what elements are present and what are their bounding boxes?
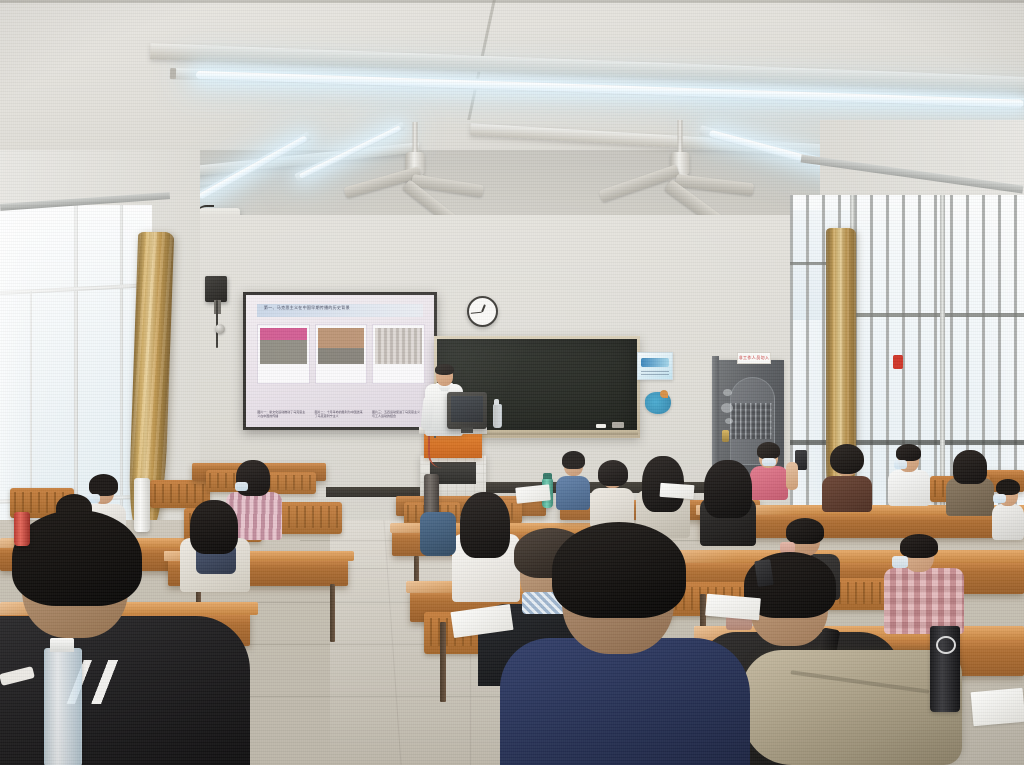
desk-leg bbox=[440, 622, 446, 702]
backpack bbox=[420, 512, 456, 556]
attendee bbox=[822, 444, 872, 512]
lecturer-hair bbox=[435, 364, 454, 375]
bottle-cap bbox=[50, 638, 74, 652]
student bbox=[556, 452, 590, 510]
student-black-jacket-front-left bbox=[0, 520, 250, 765]
wall-speaker bbox=[205, 276, 227, 302]
projection-screen: 第一、马克思主义在中国早期传播的历史背景 图片一：新文化运动推动了马克思主义在中… bbox=[243, 292, 437, 430]
projection-screen-surface: 第一、马克思主义在中国早期传播的历史背景 图片一：新文化运动推动了马克思主义在中… bbox=[246, 295, 434, 427]
desktop-monitor bbox=[447, 392, 487, 429]
water-bottle-red bbox=[14, 512, 30, 546]
poster-cat-decal bbox=[645, 392, 671, 414]
poster-blue-notice bbox=[637, 352, 673, 380]
slide-caption: 图片一：新文化运动推动了马克思主义在中国的传播 bbox=[257, 410, 306, 420]
monitor-stand bbox=[461, 427, 473, 433]
chalk-piece bbox=[596, 424, 606, 428]
slide-panel-image bbox=[318, 328, 365, 364]
door-sign-text: 非工作人员勿入 bbox=[739, 355, 770, 361]
thermos-white bbox=[134, 478, 150, 532]
desk-leg bbox=[330, 584, 335, 642]
ceiling-fan bbox=[610, 120, 750, 204]
door-grille bbox=[730, 403, 772, 439]
ceiling-fan bbox=[350, 122, 480, 202]
notebook-paper bbox=[705, 594, 761, 621]
bottle-cap bbox=[543, 473, 552, 479]
student bbox=[590, 462, 634, 528]
slide-panel bbox=[257, 324, 310, 384]
slide-caption: 图片三：五四运动促进了马克思主义与工人运动的结合 bbox=[372, 410, 421, 420]
folded-jacket-beige bbox=[742, 650, 962, 765]
slide-title-bar: 第一、马克思主义在中国早期传播的历史背景 bbox=[257, 304, 422, 317]
fire-alarm-marker bbox=[893, 355, 903, 369]
slide-title: 第一、马克思主义在中国早期传播的历史背景 bbox=[264, 305, 350, 311]
hand-sanitizer-cap bbox=[494, 399, 499, 405]
ceiling-sensor-dome bbox=[215, 324, 225, 334]
board-eraser bbox=[612, 422, 624, 428]
slide-panel-image bbox=[375, 328, 422, 364]
wall-clock bbox=[467, 296, 498, 327]
smartphone bbox=[754, 559, 773, 587]
attendee bbox=[946, 450, 994, 516]
thermos-logo bbox=[936, 636, 956, 654]
attendee bbox=[992, 480, 1024, 540]
slide-panel bbox=[372, 324, 425, 384]
door-handle[interactable] bbox=[722, 430, 729, 442]
hand-sanitizer-bottle bbox=[493, 404, 502, 428]
student-navy-shirt-front-center bbox=[500, 534, 750, 765]
slide-panel bbox=[315, 324, 368, 384]
notebook-paper bbox=[660, 483, 695, 499]
notebook-paper bbox=[971, 688, 1024, 726]
classroom-photograph: 第一、马克思主义在中国早期传播的历史背景 图片一：新文化运动推动了马克思主义在中… bbox=[0, 0, 1024, 765]
slide-panel-image bbox=[260, 328, 307, 364]
water-bottle-clear bbox=[44, 648, 82, 765]
door-sign: 非工作人员勿入 bbox=[737, 352, 771, 364]
attendee-arm-raised bbox=[786, 462, 798, 490]
monitor-screen bbox=[451, 396, 484, 423]
attendee bbox=[888, 444, 930, 506]
slide-caption: 图片二：十月革命的胜利为中国送来了马克思列宁主义 bbox=[315, 410, 364, 420]
